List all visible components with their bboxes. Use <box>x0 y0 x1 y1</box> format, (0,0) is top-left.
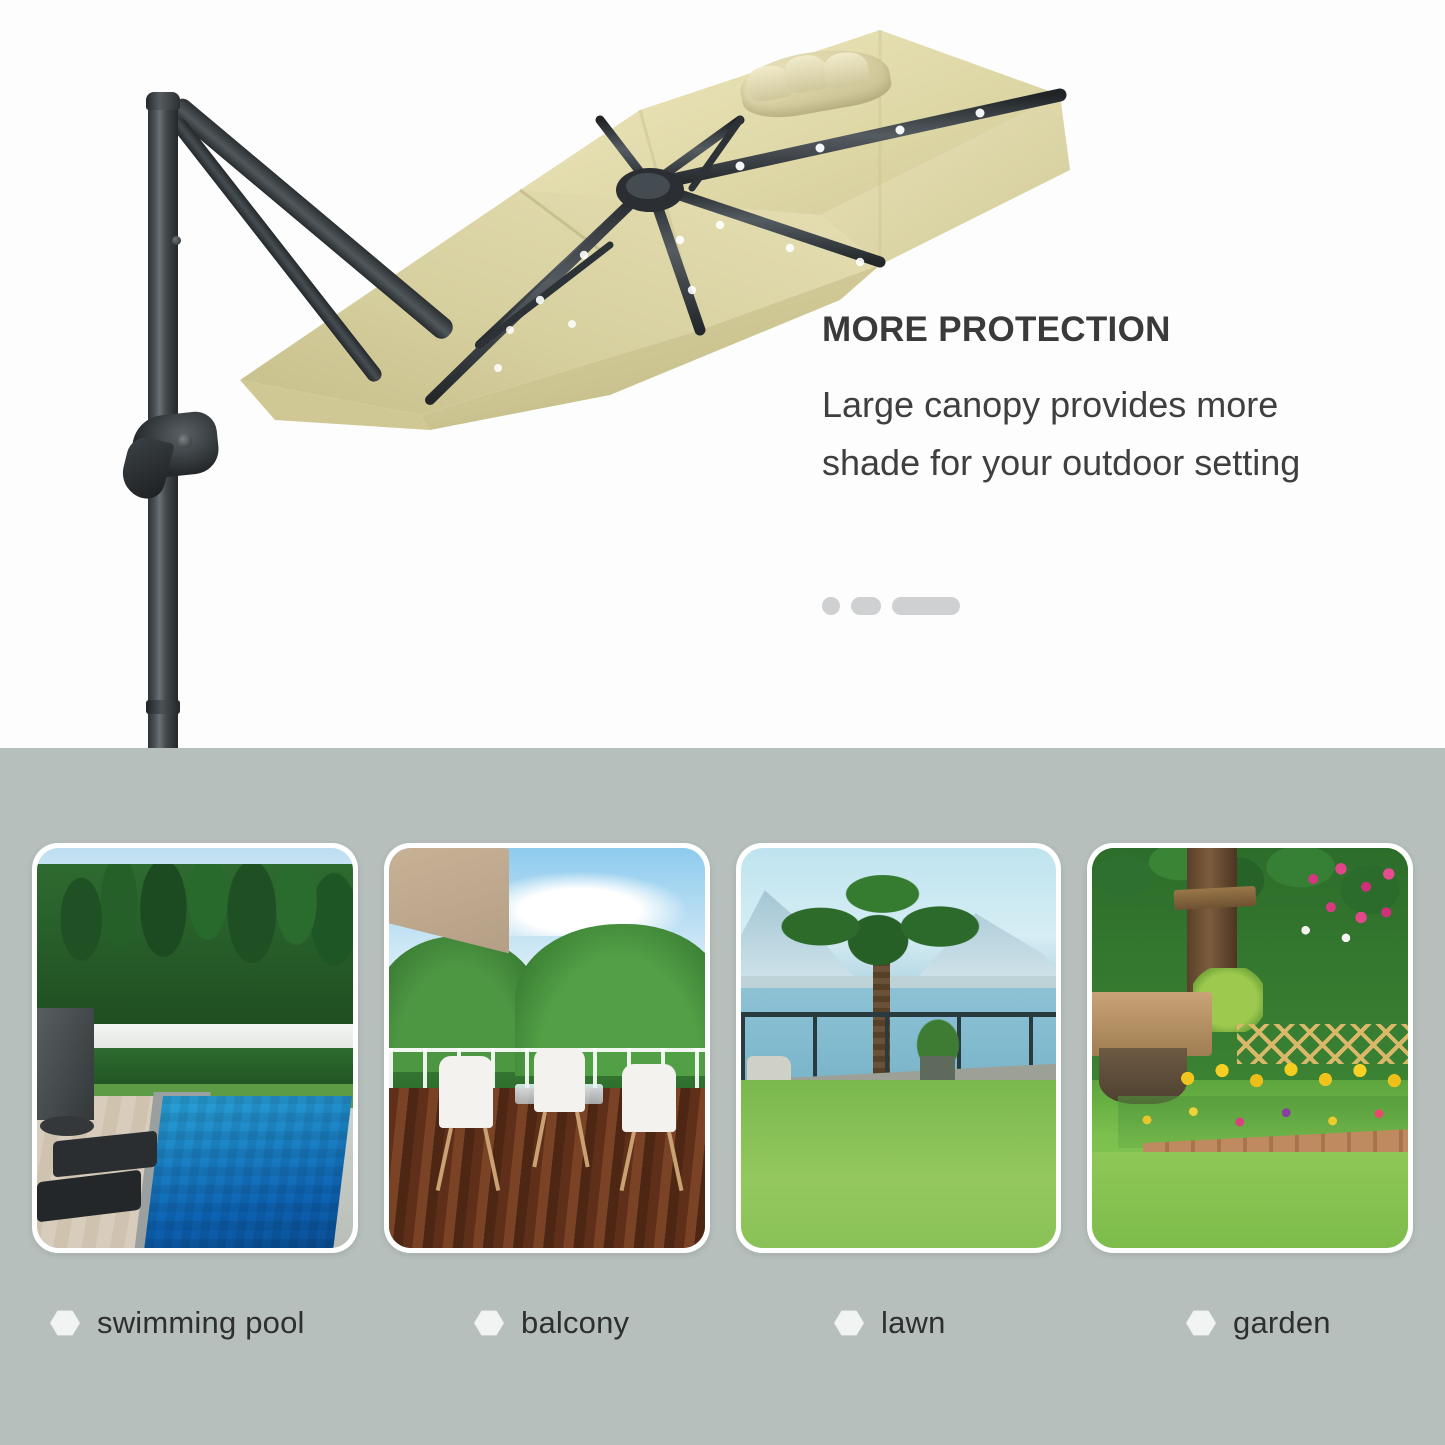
scenario-card-swimming-pool[interactable] <box>32 843 358 1253</box>
scenario-label-balcony: balcony <box>384 1288 736 1358</box>
scenario-card-garden[interactable] <box>1087 843 1413 1253</box>
scenario-card-lawn[interactable] <box>736 843 1062 1253</box>
hero-description: Large canopy provides more shade for you… <box>822 376 1342 493</box>
scenario-label-row: swimming pool balcony lawn garden <box>32 1288 1413 1358</box>
progress-pills <box>822 597 960 615</box>
mast-top-cap <box>146 92 180 110</box>
page-title: MORE PROTECTION <box>822 310 1342 350</box>
usage-scenarios-section: swimming pool balcony lawn garden <box>0 748 1445 1445</box>
hero-section: MORE PROTECTION Large canopy provides mo… <box>0 0 1445 748</box>
scenario-label-text: garden <box>1233 1305 1331 1341</box>
mast-screw <box>172 236 181 245</box>
crank-bolt <box>178 434 192 448</box>
lawn-photo <box>741 848 1057 1248</box>
product-feature-page: MORE PROTECTION Large canopy provides mo… <box>0 0 1445 1445</box>
hexagon-bullet-icon <box>474 1310 504 1337</box>
scenario-card-list <box>32 843 1413 1253</box>
scenario-label-text: balcony <box>521 1305 629 1341</box>
scenario-label-swimming-pool: swimming pool <box>32 1288 384 1358</box>
balcony-photo <box>389 848 705 1248</box>
scenario-card-balcony[interactable] <box>384 843 710 1253</box>
scenario-label-text: swimming pool <box>97 1305 305 1341</box>
progress-pill-2 <box>851 597 881 615</box>
progress-pill-1 <box>822 597 840 615</box>
hero-copy-block: MORE PROTECTION Large canopy provides mo… <box>822 310 1342 493</box>
mast-joint-collar <box>146 700 180 714</box>
scenario-label-text: lawn <box>881 1305 946 1341</box>
swimming-pool-photo <box>37 848 353 1248</box>
scenario-label-lawn: lawn <box>736 1288 1088 1358</box>
hexagon-bullet-icon <box>834 1310 864 1337</box>
hexagon-bullet-icon <box>1186 1310 1216 1337</box>
hexagon-bullet-icon <box>50 1310 80 1337</box>
garden-photo <box>1092 848 1408 1248</box>
scenario-label-garden: garden <box>1088 1288 1413 1358</box>
progress-pill-3 <box>892 597 960 615</box>
